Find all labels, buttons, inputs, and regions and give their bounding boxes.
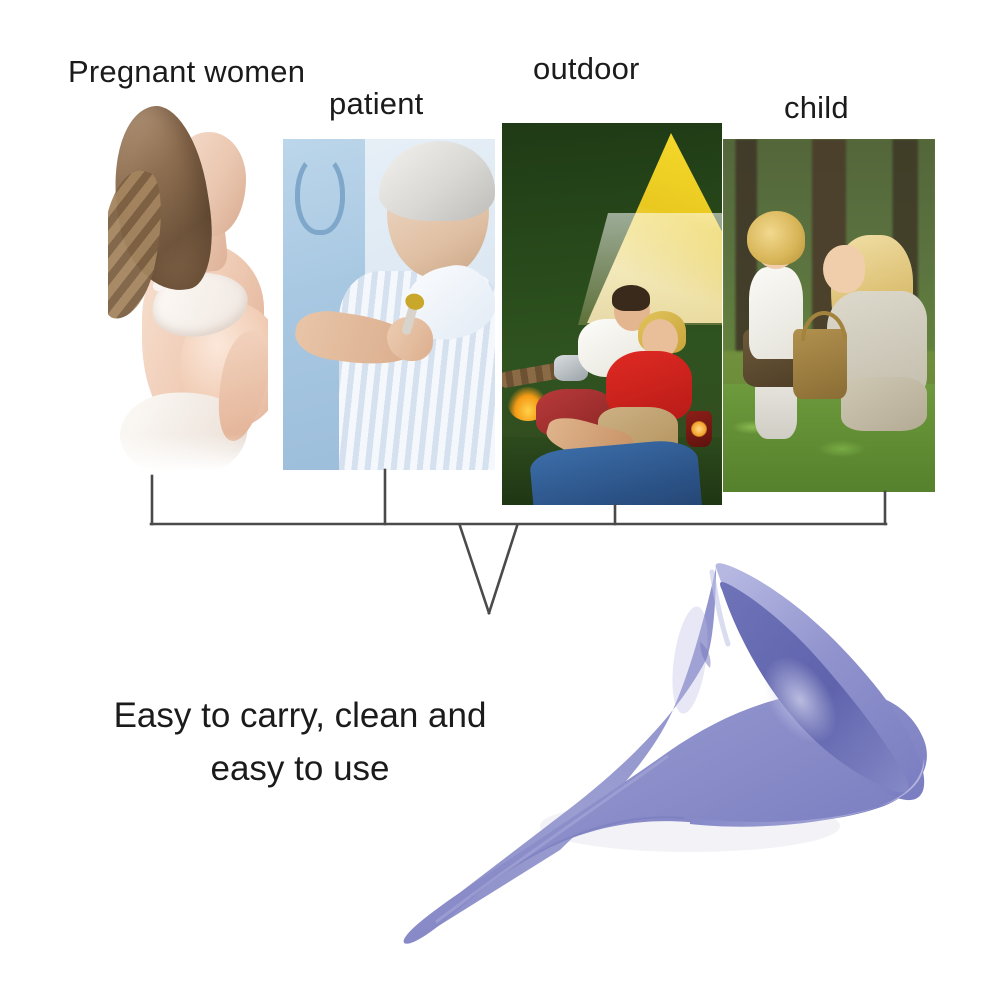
caption-line-1: Easy to carry, clean and xyxy=(60,690,540,743)
product-image xyxy=(0,0,1000,1000)
infographic-canvas: Pregnant women patient outdoor child xyxy=(0,0,1000,1000)
caption-line-2: easy to use xyxy=(60,743,540,796)
caption-text: Easy to carry, clean and easy to use xyxy=(60,690,540,795)
